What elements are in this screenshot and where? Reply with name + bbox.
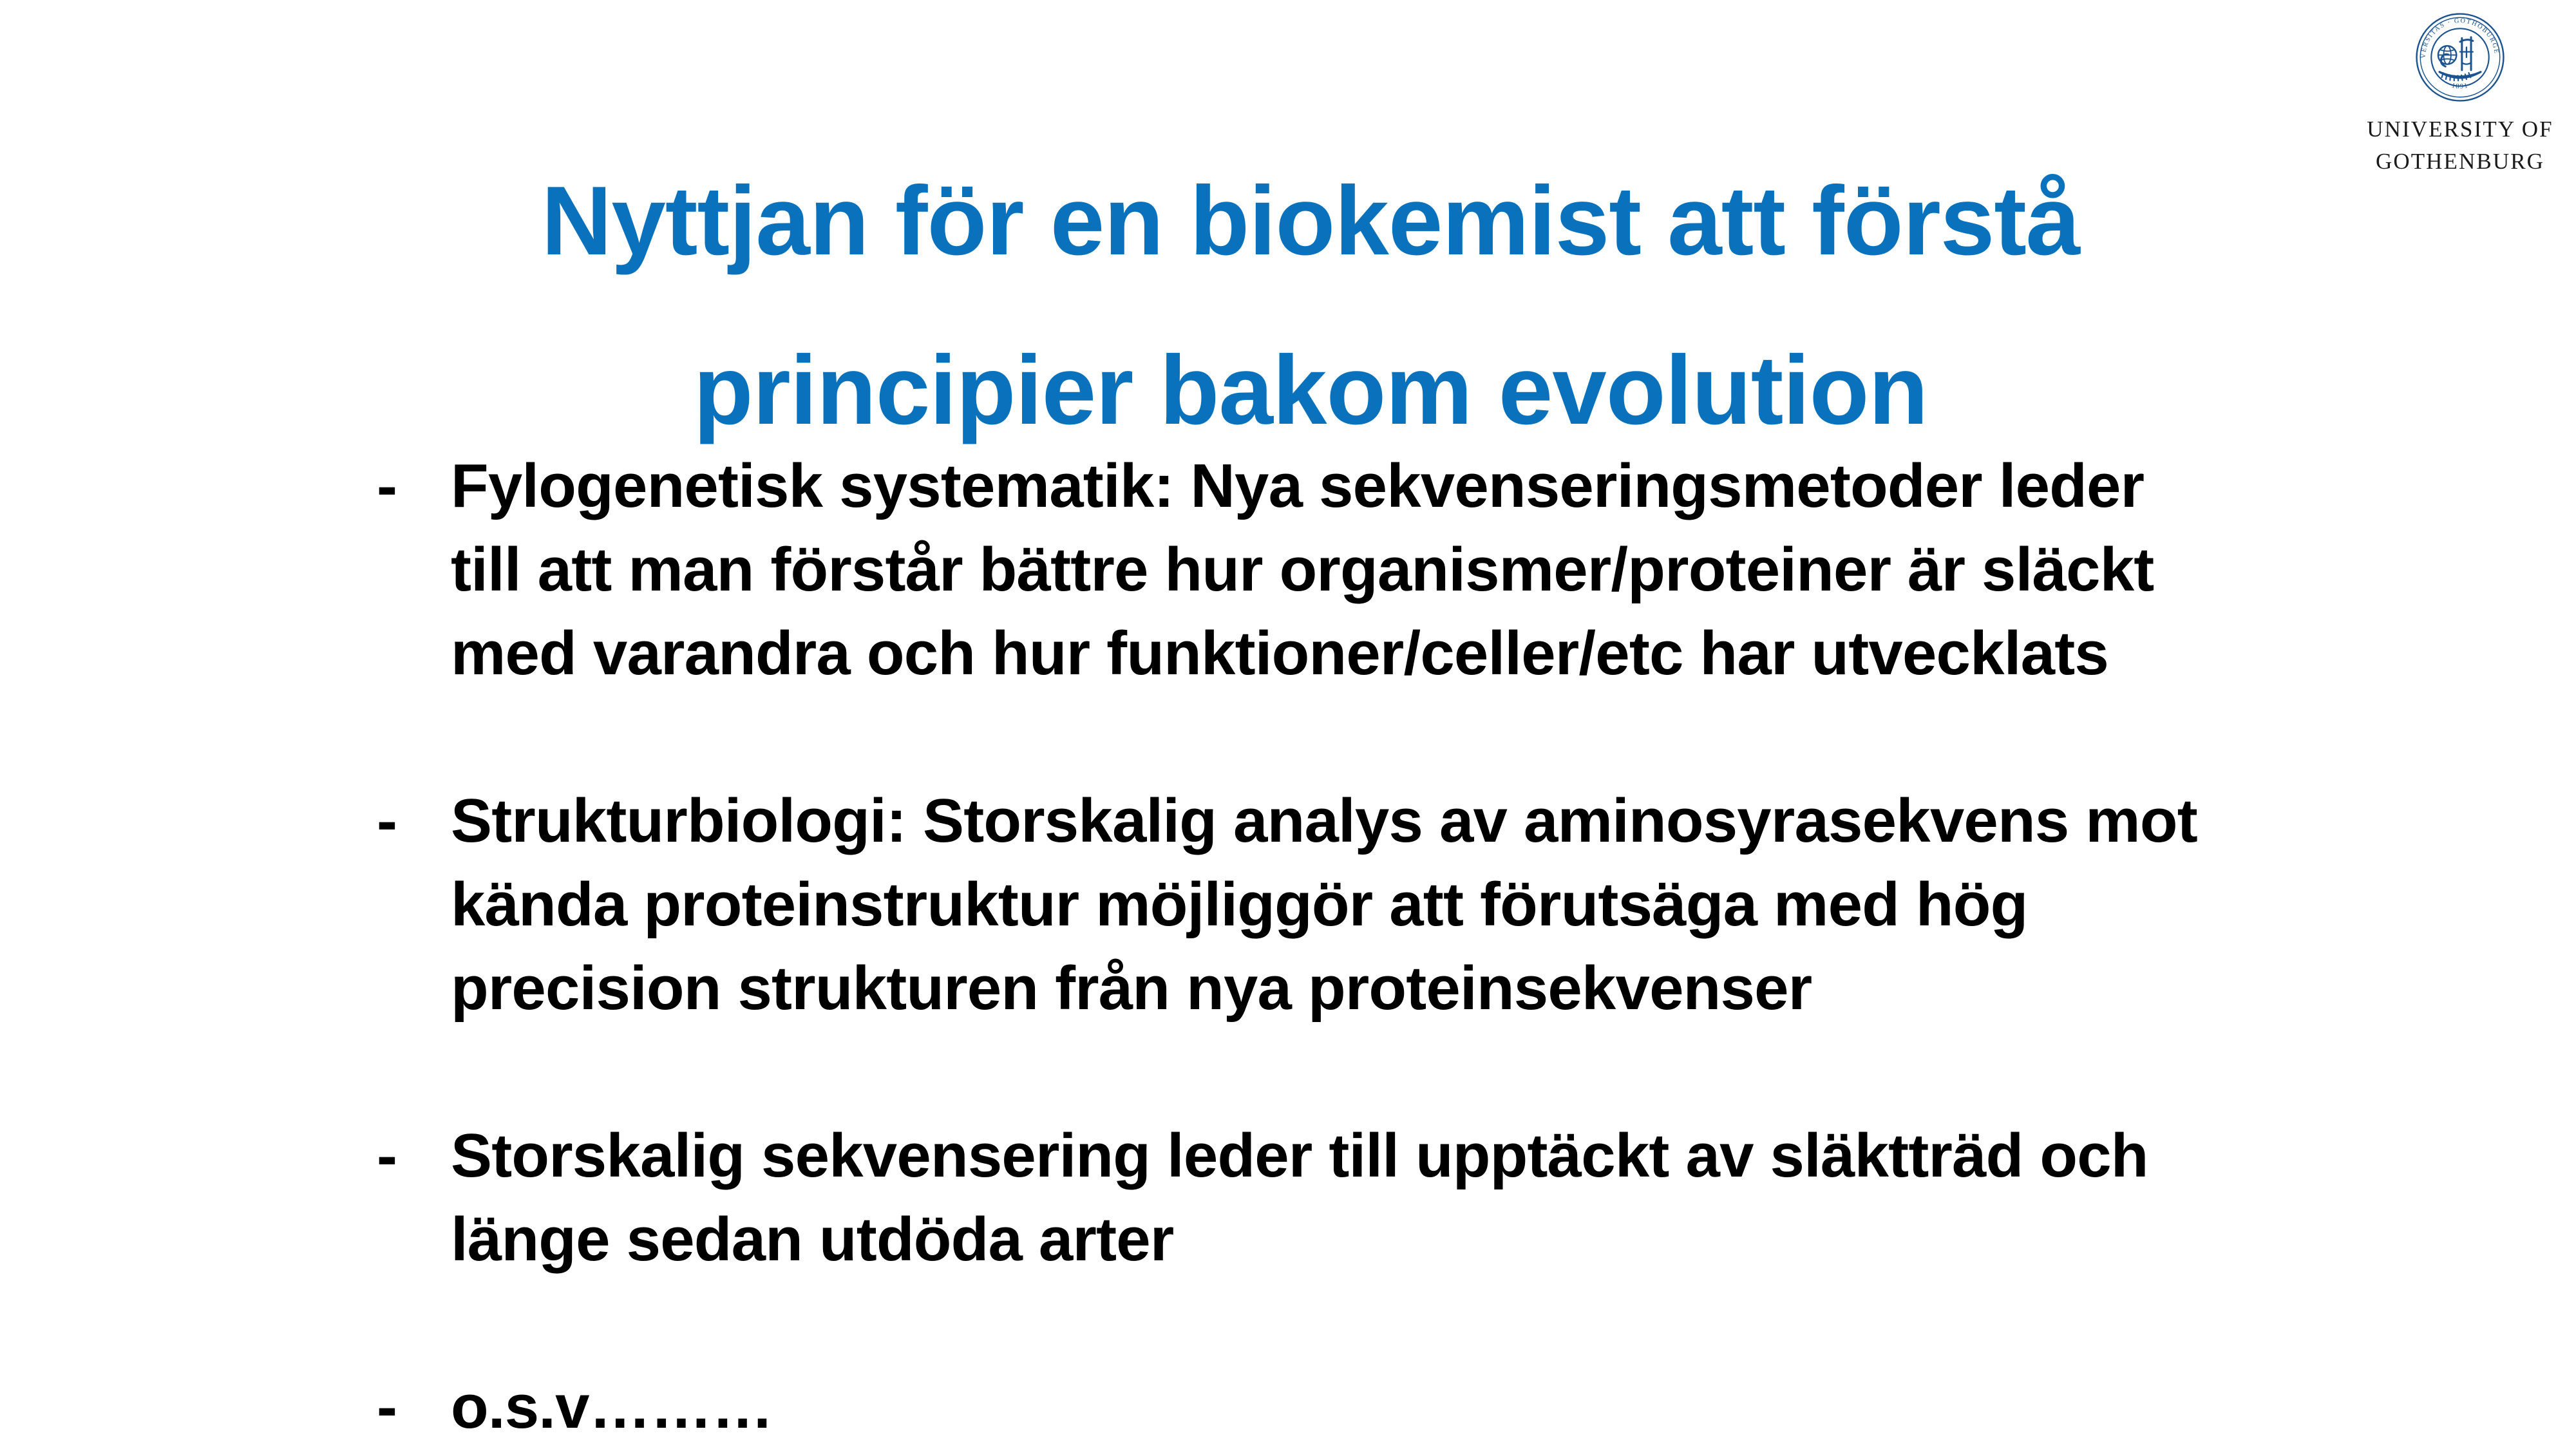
list-item: - Storskalig sekvensering leder till upp… (377, 1114, 2309, 1282)
svg-text:· 1891 ·: · 1891 · (2445, 80, 2475, 91)
bullet-list: - Fylogenetisk systematik: Nya sekvenser… (377, 444, 2309, 1449)
university-seal-icon: UNIVERSITAS · GOTHOBURGENSIS · 1891 · (2414, 12, 2506, 103)
list-item: - Strukturbiologi: Storskalig analys av … (377, 779, 2309, 1030)
bullet-text: Strukturbiologi: Storskalig analys av am… (451, 779, 2228, 1030)
list-item: - Fylogenetisk systematik: Nya sekvenser… (377, 444, 2309, 696)
list-item: - o.s.v……… (377, 1365, 2309, 1449)
bullet-dash-icon: - (377, 444, 451, 528)
slide-title-line-1: Nyttjan för en biokemist att förstå (0, 137, 2576, 306)
bullet-text: o.s.v……… (451, 1365, 2228, 1449)
bullet-text: Fylogenetisk systematik: Nya sekvenserin… (451, 444, 2228, 696)
slide-canvas: UNIVERSITAS · GOTHOBURGENSIS · 1891 · (0, 0, 2576, 1449)
slide-title: Nyttjan för en biokemist att förstå prin… (0, 137, 2576, 475)
bullet-dash-icon: - (377, 1365, 451, 1449)
bullet-dash-icon: - (377, 1114, 451, 1198)
bullet-text: Storskalig sekvensering leder till upptä… (451, 1114, 2228, 1282)
bullet-dash-icon: - (377, 779, 451, 863)
